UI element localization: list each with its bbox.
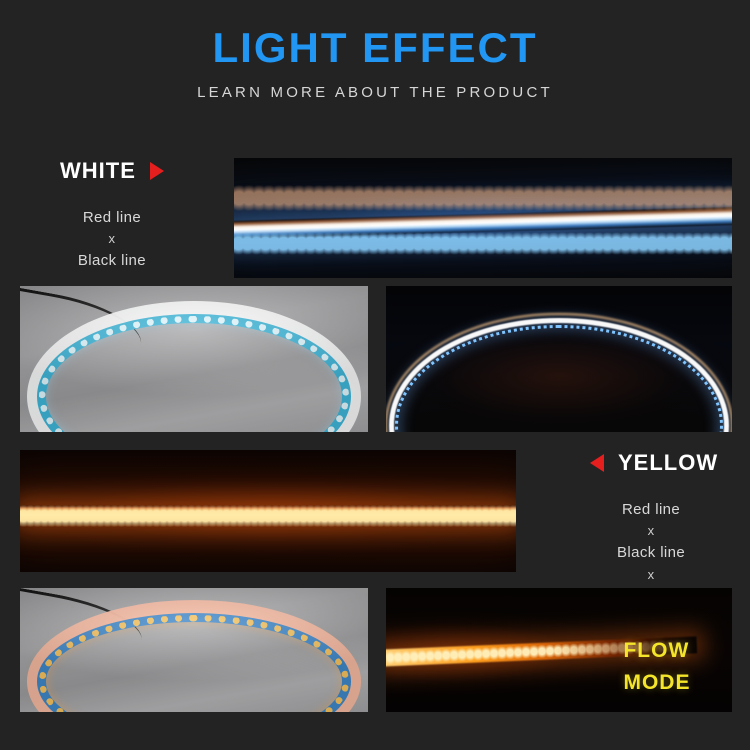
- led-dots-warm: [234, 180, 732, 216]
- header: LIGHT EFFECT LEARN MORE ABOUT THE PRODUC…: [0, 26, 750, 101]
- flow-mode-line-1: FLOW: [623, 635, 690, 667]
- white-section-label: WHITE Red line x Black line: [60, 158, 164, 273]
- photo-flow-mode: FLOW MODE: [386, 588, 732, 712]
- led-dots-blue: [234, 228, 732, 259]
- flow-mode-line-2: MODE: [623, 667, 690, 699]
- page-title: LIGHT EFFECT: [0, 26, 750, 70]
- light-effect-infographic: LIGHT EFFECT LEARN MORE ABOUT THE PRODUC…: [0, 0, 750, 750]
- white-wire-list: Red line x Black line: [60, 206, 164, 273]
- led-strip-arc-white: [27, 301, 361, 421]
- yellow-section-title: YELLOW: [618, 450, 718, 476]
- yellow-section-label: YELLOW Red line x Black line x Yelllow l…: [590, 450, 718, 608]
- led-strip-arc-amber: [27, 600, 361, 702]
- white-section-title: WHITE: [60, 158, 136, 184]
- yellow-wire-2: Black line: [584, 541, 718, 564]
- photo-amber-strip-studio: [20, 588, 368, 712]
- yellow-heading-row: YELLOW: [590, 450, 718, 476]
- photo-white-strip-studio: [20, 286, 368, 432]
- flow-mode-label: FLOW MODE: [623, 635, 690, 698]
- yellow-wire-sep-1: x: [584, 521, 718, 541]
- triangle-left-icon: [590, 454, 604, 472]
- led-strip-curve-white: [389, 318, 728, 420]
- yellow-wire-1: Red line: [584, 498, 718, 521]
- photo-amber-strip-night: [20, 450, 516, 572]
- page-subtitle: LEARN MORE ABOUT THE PRODUCT: [0, 84, 750, 101]
- amber-led-dots: [20, 501, 516, 530]
- white-heading-row: WHITE: [60, 158, 164, 184]
- yellow-wire-sep-2: x: [584, 565, 718, 585]
- triangle-right-icon: [150, 162, 164, 180]
- white-wire-2: Black line: [60, 249, 164, 272]
- photo-white-strip-curve-night: [386, 286, 732, 432]
- photo-white-strip-night: [234, 158, 732, 278]
- white-wire-sep-1: x: [60, 229, 164, 249]
- white-wire-1: Red line: [60, 206, 164, 229]
